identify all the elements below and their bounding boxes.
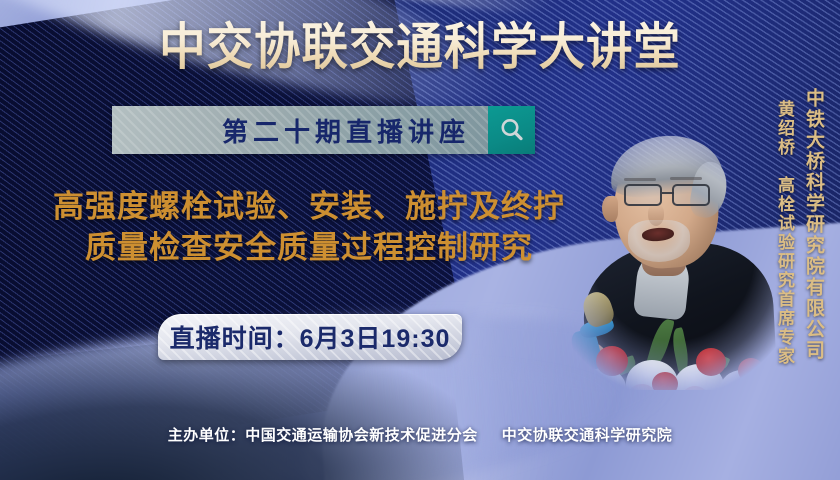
bouquet-flower-red bbox=[696, 348, 726, 376]
lecture-title-line-1: 高强度螺栓试验、安装、施拧及终拧 bbox=[14, 186, 604, 227]
subtitle-bar: 第二十期直播讲座 bbox=[112, 106, 535, 154]
glasses-lens-right bbox=[672, 184, 710, 206]
speaker-beard bbox=[628, 220, 690, 262]
bouquet-flower-red bbox=[652, 372, 678, 390]
footer-org-1: 中国交通运输协会新技术促进分会 bbox=[245, 427, 478, 444]
subtitle-label: 第二十期直播讲座 bbox=[112, 106, 488, 154]
page-title: 中交协联交通科学大讲堂 bbox=[29, 18, 810, 76]
live-time-badge: 直播时间：6月3日19:30 bbox=[158, 314, 462, 360]
speaker-eyebrow-right bbox=[670, 177, 702, 180]
poster-root: 中交协联交通科学大讲堂 第二十期直播讲座 高强度螺栓试验、安装、施拧及终拧 质量… bbox=[0, 0, 840, 480]
bouquet-flower-red bbox=[738, 358, 764, 383]
speaker-name-role: 黄绍桥 高栓试验研究首席专家 bbox=[772, 100, 797, 366]
speaker-ear bbox=[602, 196, 618, 222]
speaker-eyebrow-left bbox=[624, 178, 656, 181]
speaker-company: 中铁大桥科学研究院有限公司 bbox=[800, 88, 827, 361]
footer-prefix: 主办单位： bbox=[168, 427, 246, 444]
speaker-glasses bbox=[622, 184, 714, 206]
bouquet-flower-red bbox=[596, 346, 628, 376]
footer-organizers: 主办单位：中国交通运输协会新技术促进分会中交协联交通科学研究院 bbox=[0, 424, 840, 445]
lecture-title-line-2: 质量检查安全质量过程控制研究 bbox=[14, 227, 604, 268]
glasses-lens-left bbox=[624, 184, 662, 206]
glasses-bridge bbox=[662, 192, 674, 194]
search-icon[interactable] bbox=[488, 106, 535, 154]
lecture-title: 高强度螺栓试验、安装、施拧及终拧 质量检查安全质量过程控制研究 bbox=[14, 186, 604, 268]
footer-org-2: 中交协联交通科学研究院 bbox=[502, 427, 673, 444]
